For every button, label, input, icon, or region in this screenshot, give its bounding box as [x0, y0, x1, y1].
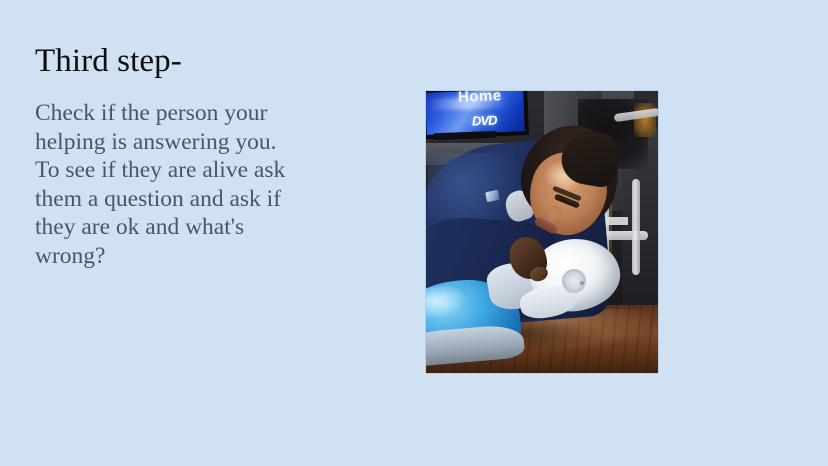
photo-manikin-ear-detail [580, 281, 584, 285]
body-line: wrong? [35, 242, 327, 271]
presentation-slide: Third step- Check if the person your hel… [0, 0, 828, 466]
cpr-training-photo: Home DVD [426, 91, 658, 373]
body-line: they are ok and what's [35, 213, 327, 242]
photo-manikin-highlight [426, 284, 467, 320]
page-title: Third step- [35, 40, 327, 82]
photo-screen-text-home: Home [458, 91, 502, 106]
body-line: them a question and ask if [35, 185, 327, 214]
photo-screen-text-dvd: DVD [472, 113, 497, 129]
slide-text-column: Third step- Check if the person your hel… [35, 40, 327, 271]
body-line: helping is answering you. [35, 128, 327, 157]
body-line: To see if they are alive ask [35, 156, 327, 185]
photo-pipe [632, 179, 640, 275]
slide-body-text: Check if the person your helping is answ… [35, 99, 327, 271]
body-line: Check if the person your [35, 99, 327, 128]
